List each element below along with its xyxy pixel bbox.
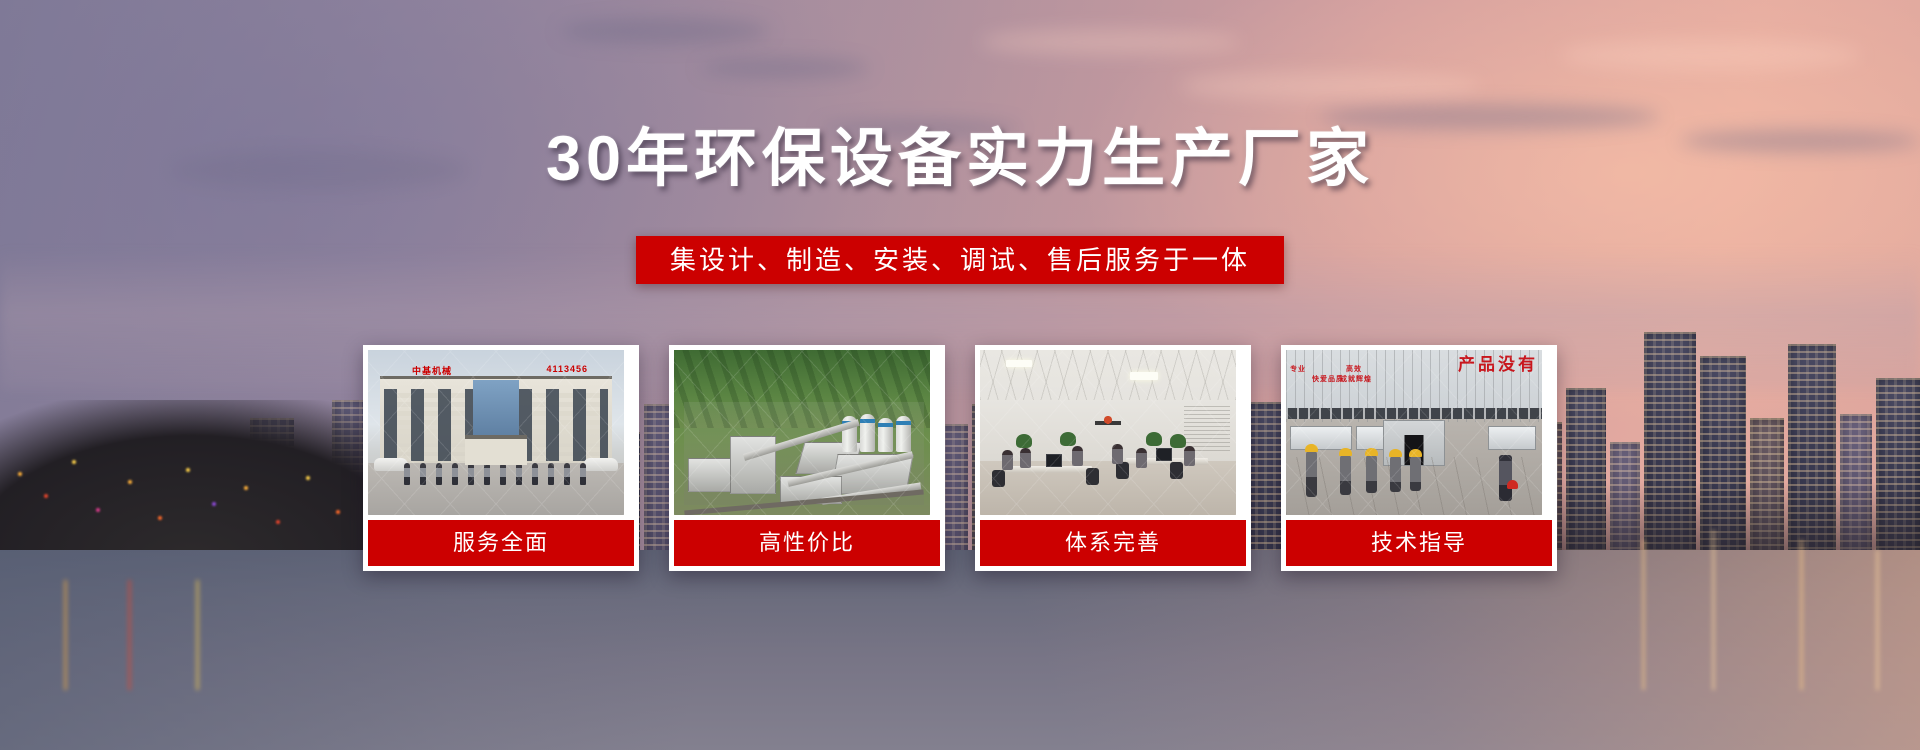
factory-wall-text-small-c: 高效 — [1346, 366, 1362, 375]
factory-wall-text-large: 产品没有 — [1458, 356, 1538, 373]
card-caption: 高性价比 — [674, 520, 940, 566]
card-caption: 体系完善 — [980, 520, 1246, 566]
card-image-industrial-plant — [674, 350, 930, 515]
feature-card[interactable]: 中基机械 4113456 服务全面 — [363, 345, 639, 571]
water-warm-reflection — [768, 550, 1920, 750]
subtitle-banner: 集设计、制造、安装、调试、售后服务于一体 — [636, 236, 1284, 284]
feature-card[interactable]: 高性价比 — [669, 345, 945, 571]
feature-card[interactable]: 体系完善 — [975, 345, 1251, 571]
page-title: 30年环保设备实力生产厂家 — [0, 128, 1920, 191]
building-sign-text: 中基机械 — [412, 364, 452, 377]
card-image-office-building: 中基机械 4113456 — [368, 350, 624, 515]
card-image-office-interior — [980, 350, 1236, 515]
card-caption: 技术指导 — [1286, 520, 1552, 566]
hero-banner: 30年环保设备实力生产厂家 集设计、制造、安装、调试、售后服务于一体 中基机械 … — [0, 0, 1920, 750]
building-phone-text: 4113456 — [546, 364, 588, 374]
factory-wall-text-small-a: 专业 — [1290, 366, 1306, 375]
feature-card[interactable]: 专业 快爱品质 高效 成就辉煌 产品没有 技术指导 — [1281, 345, 1557, 571]
factory-wall-text-small-d: 成就辉煌 — [1340, 376, 1372, 385]
card-image-factory-workers: 专业 快爱品质 高效 成就辉煌 产品没有 — [1286, 350, 1542, 515]
card-caption: 服务全面 — [368, 520, 634, 566]
feature-card-list: 中基机械 4113456 服务全面 — [363, 345, 1557, 571]
